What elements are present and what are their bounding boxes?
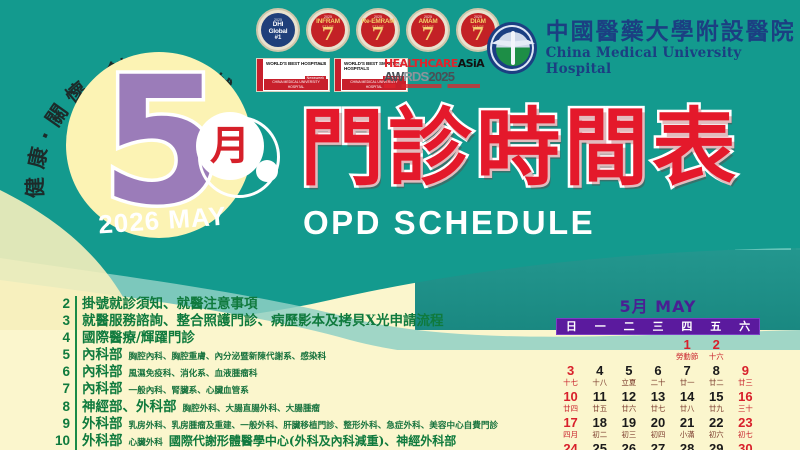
department-page-number: 8 <box>48 399 75 414</box>
department-row[interactable]: 6內科部風濕免疫科、消化系、血液腫瘤科 <box>48 364 518 381</box>
calendar-day-cell[interactable]: 5立夏 <box>614 364 643 390</box>
calendar-day-cell[interactable]: 9廿三 <box>731 364 760 390</box>
calendar-lunar-label: 廿四 <box>556 404 585 413</box>
badge-footer: CHINA MEDICAL UNIVERSITY HOSPITAL <box>264 79 328 90</box>
hospital-name-cn: 中國醫藥大學附設醫院 <box>546 19 800 45</box>
calendar-lunar-label: 立夏 <box>614 378 643 387</box>
calendar-weekday: 一 <box>586 319 615 334</box>
department-row[interactable]: 8神經部、外科部胸腔外科、大腸直腸外科、大腸腫瘤 <box>48 399 518 416</box>
calendar-day-number: 9 <box>731 364 760 378</box>
calendar-lunar-label: 十六 <box>702 352 731 361</box>
calendar-day-number: 11 <box>585 390 614 404</box>
department-page-number: 3 <box>48 313 75 328</box>
hospital-identity: 中國醫藥大學附設醫院 China Medical University Hosp… <box>487 20 800 76</box>
department-subspecialties: 心臟外科 <box>129 435 163 450</box>
calendar-empty-cell <box>585 338 614 364</box>
calendar-lunar-label: 初七 <box>731 430 760 439</box>
department-subspecialties: 胸腔外科、大腸直腸外科、大腸腫瘤 <box>183 401 321 418</box>
calendar-lunar-label: 十八 <box>585 378 614 387</box>
seal-year: 2025 <box>374 16 382 20</box>
calendar-empty-cell <box>556 338 585 364</box>
calendar-day-cell[interactable]: 28十二 <box>673 442 702 450</box>
calendar-day-cell[interactable]: 11廿五 <box>585 390 614 416</box>
calendar-day-cell[interactable]: 17四月 <box>556 416 585 442</box>
department-row[interactable]: 7內科部一般內科、腎臟系、心臟血管系 <box>48 381 518 398</box>
calendar-day-number: 30 <box>731 442 760 450</box>
calendar-lunar-label: 勞動節 <box>673 352 702 361</box>
calendar-lunar-label: 廿九 <box>702 404 731 413</box>
calendar-day-cell[interactable]: 19初三 <box>614 416 643 442</box>
seal-year: 2025 <box>424 16 432 20</box>
calendar-day-number: 4 <box>585 364 614 378</box>
month-char-label: 月 <box>196 112 264 180</box>
calendar-day-number: 27 <box>643 442 672 450</box>
row-divider <box>75 296 77 313</box>
calendar-day-number: 17 <box>556 416 585 430</box>
calendar-lunar-label: 廿二 <box>702 378 731 387</box>
department-page-number: 10 <box>48 433 75 448</box>
department-page-number: 7 <box>48 381 75 396</box>
row-divider <box>75 330 77 347</box>
calendar-day-grid: 1勞動節2十六3十七4十八5立夏6二十7廿一8廿二9廿三10廿四11廿五12廿六… <box>556 338 760 450</box>
calendar-lunar-label: 廿三 <box>731 378 760 387</box>
calendar-empty-cell <box>731 338 760 364</box>
department-name: 內科部 <box>82 381 123 398</box>
hca-line2-b: RDS <box>403 69 428 84</box>
department-name: 內科部 <box>82 347 123 364</box>
department-name: 神經部、外科部 <box>82 399 177 416</box>
department-subspecialties: 風濕免疫科、消化系、血液腫瘤科 <box>129 366 258 383</box>
calendar-day-number: 24 <box>556 442 585 450</box>
department-page-number: 2 <box>48 296 75 311</box>
award-seal-re-emram: 2025 Re-EMRAM STAGE 7 <box>356 8 400 52</box>
calendar-lunar-label: 十七 <box>556 378 585 387</box>
calendar-day-cell[interactable]: 29十三 <box>702 442 731 450</box>
hca-line2-c: 2025 <box>428 69 454 84</box>
calendar-lunar-label: 廿一 <box>673 378 702 387</box>
hca-line1-b: ASiA <box>458 57 484 70</box>
seal-rank: #1 <box>275 35 282 41</box>
calendar-day-number: 15 <box>702 390 731 404</box>
badge-worlds-best-hospitals: WORLD'S BEST HOSPITALS 2026 Newsweek sta… <box>256 58 330 92</box>
seal-year: 2025 <box>474 16 482 20</box>
hospital-name-en: China Medical University Hospital <box>546 45 800 77</box>
calendar-day-cell[interactable]: 27十一 <box>643 442 672 450</box>
calendar-day-number: 29 <box>702 442 731 450</box>
calendar-empty-cell <box>614 338 643 364</box>
row-divider <box>75 364 77 381</box>
calendar-day-cell[interactable]: 6二十 <box>643 364 672 390</box>
calendar-weekday: 四 <box>672 319 701 334</box>
row-divider <box>75 347 77 364</box>
department-page-number: 5 <box>48 347 75 362</box>
department-row[interactable]: 4國際醫療/輝躍門診 <box>48 330 518 347</box>
row-divider <box>75 399 77 416</box>
month-accent-dot <box>256 160 278 182</box>
calendar-weekday: 日 <box>557 319 586 334</box>
calendar-day-number: 1 <box>673 338 702 352</box>
calendar-lunar-label: 初三 <box>614 430 643 439</box>
calendar-day-cell[interactable]: 12廿六 <box>614 390 643 416</box>
calendar-day-cell[interactable]: 3十七 <box>556 364 585 390</box>
calendar-day-cell[interactable]: 15廿九 <box>702 390 731 416</box>
department-row[interactable]: 3就醫服務諮詢、整合照護門診、病歷影本及拷貝X光申請流程 <box>48 313 518 330</box>
calendar-day-cell[interactable]: 18初二 <box>585 416 614 442</box>
calendar-lunar-label: 三十 <box>731 404 760 413</box>
calendar: 5月 MAY 日一二三四五六 1勞動節2十六3十七4十八5立夏6二十7廿一8廿二… <box>556 297 760 450</box>
page-title-en: OPD SCHEDULE <box>303 204 595 242</box>
award-badges: 2025 DHI Global #1 2025 INFRAM STAGE 7 2… <box>256 6 501 92</box>
calendar-day-cell[interactable]: 20初四 <box>643 416 672 442</box>
calendar-day-number: 7 <box>673 364 702 378</box>
seal-level: 7 <box>322 26 335 44</box>
calendar-day-number: 26 <box>614 442 643 450</box>
calendar-day-number: 23 <box>731 416 760 430</box>
calendar-day-number: 10 <box>556 390 585 404</box>
calendar-lunar-label: 二十 <box>643 378 672 387</box>
calendar-day-number: 6 <box>643 364 672 378</box>
calendar-lunar-label: 初四 <box>643 430 672 439</box>
award-seal-dhi: 2025 DHI Global #1 <box>256 8 300 52</box>
calendar-weekday-header: 日一二三四五六 <box>556 318 760 335</box>
hca-line2-a: AW <box>384 69 403 84</box>
calendar-day-number: 16 <box>731 390 760 404</box>
calendar-lunar-label: 廿六 <box>614 404 643 413</box>
calendar-day-number: 21 <box>673 416 702 430</box>
calendar-day-number: 14 <box>673 390 702 404</box>
calendar-day-cell[interactable]: 4十八 <box>585 364 614 390</box>
department-name: 掛號就診須知、就醫注意事項 <box>82 296 258 313</box>
calendar-day-number: 18 <box>585 416 614 430</box>
department-name: 就醫服務諮詢、整合照護門診、病歷影本及拷貝X光申請流程 <box>82 313 443 330</box>
calendar-day-number: 12 <box>614 390 643 404</box>
calendar-weekday: 二 <box>615 319 644 334</box>
calendar-lunar-label: 初六 <box>702 430 731 439</box>
calendar-lunar-label: 廿七 <box>643 404 672 413</box>
award-seal-infram: 2025 INFRAM STAGE 7 <box>306 8 350 52</box>
calendar-day-cell[interactable]: 24初八 <box>556 442 585 450</box>
calendar-day-cell[interactable]: 16三十 <box>731 390 760 416</box>
seal-level: 7 <box>472 26 485 44</box>
department-index-list: 2掛號就診須知、就醫注意事項3就醫服務諮詢、整合照護門診、病歷影本及拷貝X光申請… <box>48 296 518 450</box>
calendar-day-cell[interactable]: 8廿二 <box>702 364 731 390</box>
calendar-day-cell[interactable]: 30十四 <box>731 442 760 450</box>
department-page-number: 4 <box>48 330 75 345</box>
department-row[interactable]: 2掛號就診須知、就醫注意事項 <box>48 296 518 313</box>
calendar-day-cell[interactable]: 14廿八 <box>673 390 702 416</box>
calendar-day-cell[interactable]: 21小滿 <box>673 416 702 442</box>
calendar-day-cell[interactable]: 10廿四 <box>556 390 585 416</box>
badge-year: 2026 <box>305 62 326 66</box>
calendar-day-cell[interactable]: 23初七 <box>731 416 760 442</box>
seal-level: 7 <box>422 26 435 44</box>
calendar-day-number: 28 <box>673 442 702 450</box>
calendar-day-number: 25 <box>585 442 614 450</box>
department-row[interactable]: 9外科部乳房外科、乳房腫瘤及重建、一般外科、肝臟移植門診、整形外科、急症外科、美… <box>48 416 518 433</box>
department-subspecialties: 胸腔內科、胸腔重膚、內分泌暨新陳代謝系、感染科 <box>129 349 327 366</box>
calendar-day-number: 8 <box>702 364 731 378</box>
calendar-day-number: 19 <box>614 416 643 430</box>
row-divider <box>75 381 77 398</box>
heartbeat-icon <box>384 84 480 88</box>
department-name: 外科部 <box>82 433 123 450</box>
badge-healthcare-asia-awards: HEALTHCAREASiA AWRDS2025 <box>384 58 480 92</box>
calendar-day-number: 13 <box>643 390 672 404</box>
calendar-day-cell[interactable]: 26初十 <box>614 442 643 450</box>
calendar-day-number: 2 <box>702 338 731 352</box>
department-highlight: 國際代謝形體醫學中心(外科及內科減重)、神經外科部 <box>169 433 456 450</box>
calendar-weekday: 三 <box>644 319 673 334</box>
calendar-lunar-label: 初二 <box>585 430 614 439</box>
calendar-day-cell[interactable]: 1勞動節 <box>673 338 702 364</box>
award-seal-amam: 2025 AMAM STAGE 7 <box>406 8 450 52</box>
calendar-lunar-label: 廿五 <box>585 404 614 413</box>
seal-level: 7 <box>372 26 385 44</box>
department-name: 國際醫療/輝躍門診 <box>82 330 195 347</box>
department-row[interactable]: 10外科部心臟外科國際代謝形體醫學中心(外科及內科減重)、神經外科部 <box>48 433 518 450</box>
hospital-logo-icon <box>487 22 537 74</box>
calendar-day-number: 5 <box>614 364 643 378</box>
calendar-day-cell[interactable]: 2十六 <box>702 338 731 364</box>
calendar-day-cell[interactable]: 13廿七 <box>643 390 672 416</box>
seal-year: 2025 <box>274 19 282 23</box>
department-row[interactable]: 5內科部胸腔內科、胸腔重膚、內分泌暨新陳代謝系、感染科 <box>48 347 518 364</box>
calendar-day-number: 20 <box>643 416 672 430</box>
calendar-lunar-label: 小滿 <box>673 430 702 439</box>
row-divider <box>75 416 77 433</box>
seal-year: 2025 <box>324 16 332 20</box>
row-divider <box>75 313 77 330</box>
calendar-month-label: 5月 MAY <box>556 297 760 316</box>
department-name: 內科部 <box>82 364 123 381</box>
calendar-day-number: 3 <box>556 364 585 378</box>
row-divider <box>75 433 77 450</box>
calendar-day-number: 22 <box>702 416 731 430</box>
page-title-cn: 門診時間表 <box>300 103 740 193</box>
calendar-day-cell[interactable]: 25初九 <box>585 442 614 450</box>
calendar-weekday: 五 <box>701 319 730 334</box>
calendar-lunar-label: 四月 <box>556 430 585 439</box>
department-name: 外科部 <box>82 416 123 433</box>
calendar-day-cell[interactable]: 7廿一 <box>673 364 702 390</box>
department-page-number: 6 <box>48 364 75 379</box>
calendar-lunar-label: 廿八 <box>673 404 702 413</box>
calendar-day-cell[interactable]: 22初六 <box>702 416 731 442</box>
calendar-weekday: 六 <box>730 319 759 334</box>
opd-schedule-poster: 健 康 · 關 懷 · 創 新 · 卓 越 5 月 2026 MAY 2025 … <box>0 0 800 450</box>
department-page-number: 9 <box>48 416 75 431</box>
calendar-empty-cell <box>643 338 672 364</box>
